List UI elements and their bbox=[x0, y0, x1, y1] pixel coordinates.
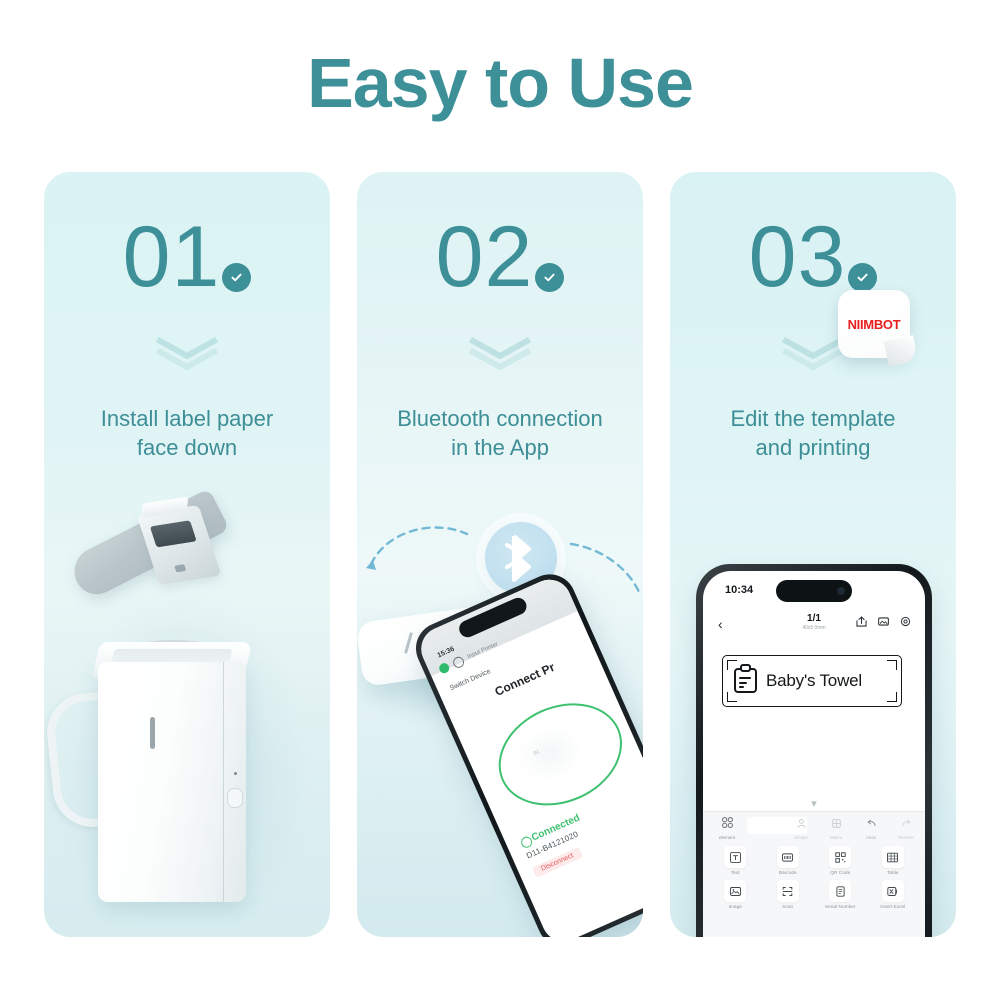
crop-corner-tl-icon bbox=[727, 660, 737, 670]
step-caption-2-line2: in the App bbox=[365, 433, 635, 462]
label-canvas[interactable]: Baby's Towel bbox=[703, 639, 925, 791]
crop-corner-bl-icon bbox=[727, 692, 737, 702]
step-caption-1: Install label paper face down bbox=[44, 404, 330, 462]
tool-insert-excel[interactable]: Insert Excel bbox=[867, 880, 920, 910]
printer-seam bbox=[223, 662, 224, 902]
step-caption-3-line2: and printing bbox=[678, 433, 948, 462]
table-icon bbox=[882, 846, 904, 868]
matrix-button[interactable]: Matrix bbox=[823, 816, 849, 840]
lid-top-chip bbox=[141, 497, 188, 518]
tool-text-label: Text bbox=[709, 871, 762, 876]
crop-corner-tr-icon bbox=[887, 660, 897, 670]
step-number-group-2: 02 bbox=[357, 214, 643, 300]
tool-qrcode[interactable]: QR Code bbox=[814, 846, 867, 876]
page-title: Easy to Use bbox=[0, 48, 1000, 118]
phone-device-3: 10:34 ‹ 1/1 40x5 0mm bbox=[696, 564, 932, 937]
phone-frame-3: 10:34 ‹ 1/1 40x5 0mm bbox=[696, 564, 932, 937]
step-caption-3: Edit the template and printing bbox=[670, 404, 956, 462]
tool-grid: Text Barcode bbox=[703, 842, 925, 910]
toolbar-top-row: element Simple bbox=[703, 812, 925, 840]
double-chevron-down-icon bbox=[357, 337, 643, 371]
step-number-group-3: 03 bbox=[670, 214, 956, 300]
step-number-2: 02 bbox=[436, 214, 534, 300]
element-button[interactable]: element bbox=[711, 816, 743, 840]
image-icon[interactable] bbox=[877, 615, 890, 628]
simple-button[interactable]: Simple bbox=[788, 816, 814, 840]
status-dot-icon bbox=[438, 662, 451, 675]
check-circle-icon bbox=[848, 263, 877, 292]
image-icon bbox=[724, 880, 746, 902]
phone-clock-3: 10:34 bbox=[725, 584, 753, 596]
power-button[interactable] bbox=[227, 788, 243, 808]
undo-label: Undo bbox=[858, 835, 884, 840]
lid-hole bbox=[174, 564, 186, 572]
tool-image-label: Image bbox=[709, 905, 762, 910]
matrix-label: Matrix bbox=[823, 835, 849, 840]
restore-button[interactable]: Restore bbox=[893, 816, 919, 840]
step-caption-2-line1: Bluetooth connection bbox=[365, 404, 635, 433]
editor-navbar: ‹ 1/1 40x5 0mm bbox=[703, 609, 925, 639]
step-card-3: 03 Edit the template and printing NIIMBO… bbox=[670, 172, 956, 937]
person-icon bbox=[796, 818, 807, 829]
tool-text[interactable]: Text bbox=[709, 846, 762, 876]
printer-led bbox=[234, 772, 237, 775]
steps-row: 01 Install label paper face down bbox=[44, 172, 956, 937]
tool-insert-excel-label: Insert Excel bbox=[867, 905, 920, 910]
pairing-arc-left bbox=[363, 516, 473, 576]
step-number-1: 01 bbox=[123, 214, 221, 300]
switch-device-link[interactable]: Switch Device bbox=[449, 668, 492, 692]
search-icon bbox=[451, 655, 466, 670]
tool-barcode-label: Barcode bbox=[762, 871, 815, 876]
element-label: element bbox=[711, 835, 743, 840]
text-icon bbox=[724, 846, 746, 868]
printer-body bbox=[98, 662, 246, 902]
step-card-2: 02 Bluetooth connection in the App bbox=[357, 172, 643, 937]
lid-window bbox=[150, 520, 197, 547]
serial-number-icon bbox=[829, 880, 851, 902]
tool-scan-label: Scan bbox=[762, 905, 815, 910]
qrcode-icon bbox=[829, 846, 851, 868]
matrix-icon bbox=[831, 818, 842, 829]
phone-screen-3: 10:34 ‹ 1/1 40x5 0mm bbox=[703, 571, 925, 937]
double-chevron-down-icon bbox=[44, 337, 330, 371]
step-caption-1-line2: face down bbox=[52, 433, 322, 462]
scan-icon bbox=[777, 880, 799, 902]
check-circle-icon bbox=[222, 263, 251, 292]
toolbar-actions: Simple Matrix Undo bbox=[788, 816, 919, 840]
tool-scan[interactable]: Scan bbox=[762, 880, 815, 910]
crop-corner-br-icon bbox=[887, 692, 897, 702]
niimbot-logo-sticker: NIIMBOT bbox=[838, 290, 910, 358]
connect-printer-title: Connect Pr bbox=[493, 660, 557, 699]
grid-icon bbox=[721, 816, 734, 829]
step-caption-3-line1: Edit the template bbox=[678, 404, 948, 433]
share-icon[interactable] bbox=[855, 615, 868, 628]
tool-qrcode-label: QR Code bbox=[814, 871, 867, 876]
excel-icon bbox=[882, 880, 904, 902]
redo-icon bbox=[901, 818, 912, 829]
promo-graphic: Easy to Use 01 Install label paper face … bbox=[0, 0, 1000, 1000]
label-text[interactable]: Baby's Towel bbox=[766, 671, 862, 691]
step-number-3: 03 bbox=[749, 214, 847, 300]
tool-serial-number-label: Serial Number bbox=[814, 905, 867, 910]
tool-table-label: Table bbox=[867, 871, 920, 876]
tool-serial-number[interactable]: Serial Number bbox=[814, 880, 867, 910]
tool-table[interactable]: Table bbox=[867, 846, 920, 876]
settings-gear-icon[interactable] bbox=[899, 615, 912, 628]
undo-button[interactable]: Undo bbox=[858, 816, 884, 840]
editor-toolbar: element Simple bbox=[703, 811, 925, 937]
label-preview[interactable]: Baby's Towel bbox=[722, 655, 902, 707]
navbar-icons bbox=[855, 615, 912, 628]
barcode-icon bbox=[777, 846, 799, 868]
dynamic-island bbox=[776, 580, 852, 602]
phone-frame-2: 15:36 Input Printer Switch Device Connec… bbox=[408, 566, 643, 937]
step-caption-2: Bluetooth connection in the App bbox=[357, 404, 643, 462]
niimbot-brand-text: NIIMBOT bbox=[848, 317, 901, 332]
restore-label: Restore bbox=[893, 835, 919, 840]
chevron-down-icon[interactable]: ▾ bbox=[703, 797, 925, 810]
tool-barcode[interactable]: Barcode bbox=[762, 846, 815, 876]
step-card-1: 01 Install label paper face down bbox=[44, 172, 330, 937]
undo-icon bbox=[866, 818, 877, 829]
phone-screen-2: 15:36 Input Printer Switch Device Connec… bbox=[414, 573, 643, 937]
printer-slot bbox=[150, 717, 155, 749]
step-caption-1-line1: Install label paper bbox=[52, 404, 322, 433]
label-printer-open-lid-image bbox=[44, 492, 330, 937]
check-circle-icon bbox=[535, 263, 564, 292]
simple-label: Simple bbox=[788, 835, 814, 840]
step-number-group-1: 01 bbox=[44, 214, 330, 300]
front-camera-icon bbox=[837, 587, 845, 595]
tool-image[interactable]: Image bbox=[709, 880, 762, 910]
